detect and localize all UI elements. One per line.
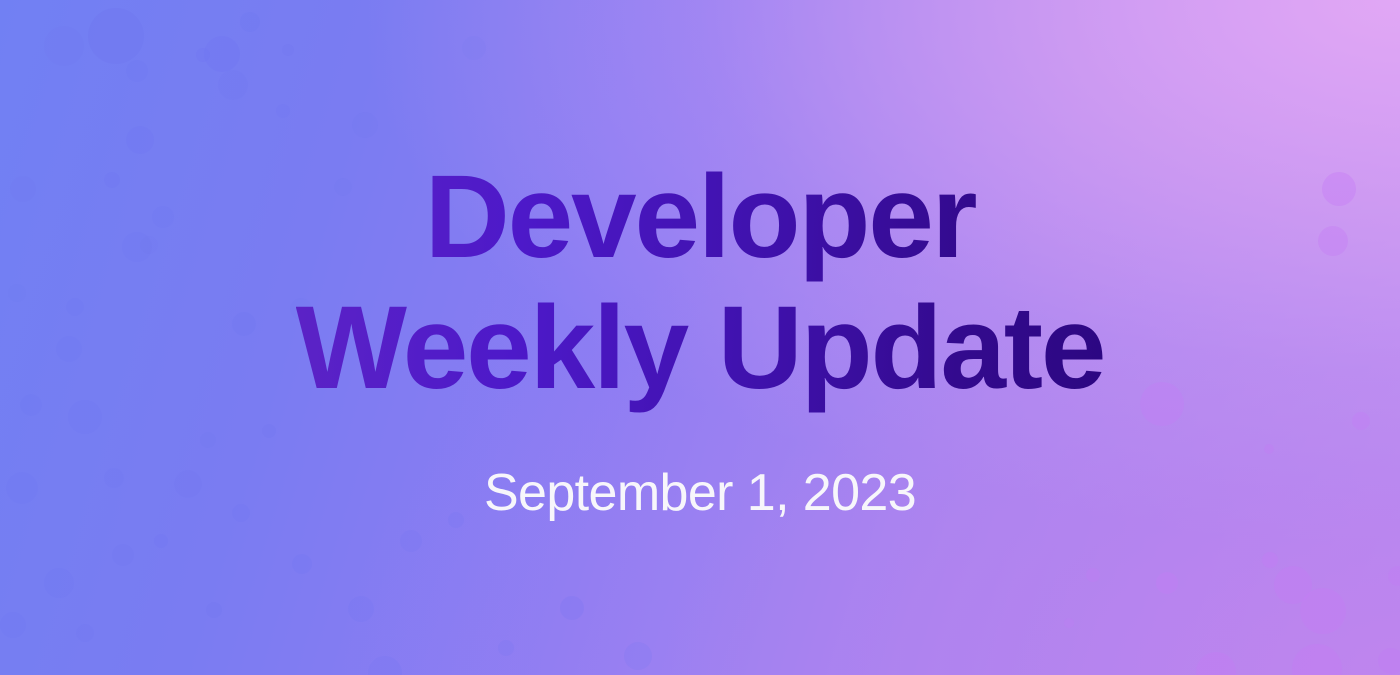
page-title: Developer Weekly Update bbox=[296, 152, 1105, 413]
issue-date: September 1, 2023 bbox=[484, 463, 916, 523]
page-title-line-1: Developer bbox=[296, 152, 1105, 282]
page-title-line-2: Weekly Update bbox=[296, 283, 1105, 413]
banner-content: Developer Weekly Update September 1, 202… bbox=[0, 0, 1400, 675]
developer-weekly-update-banner: Developer Weekly Update September 1, 202… bbox=[0, 0, 1400, 675]
